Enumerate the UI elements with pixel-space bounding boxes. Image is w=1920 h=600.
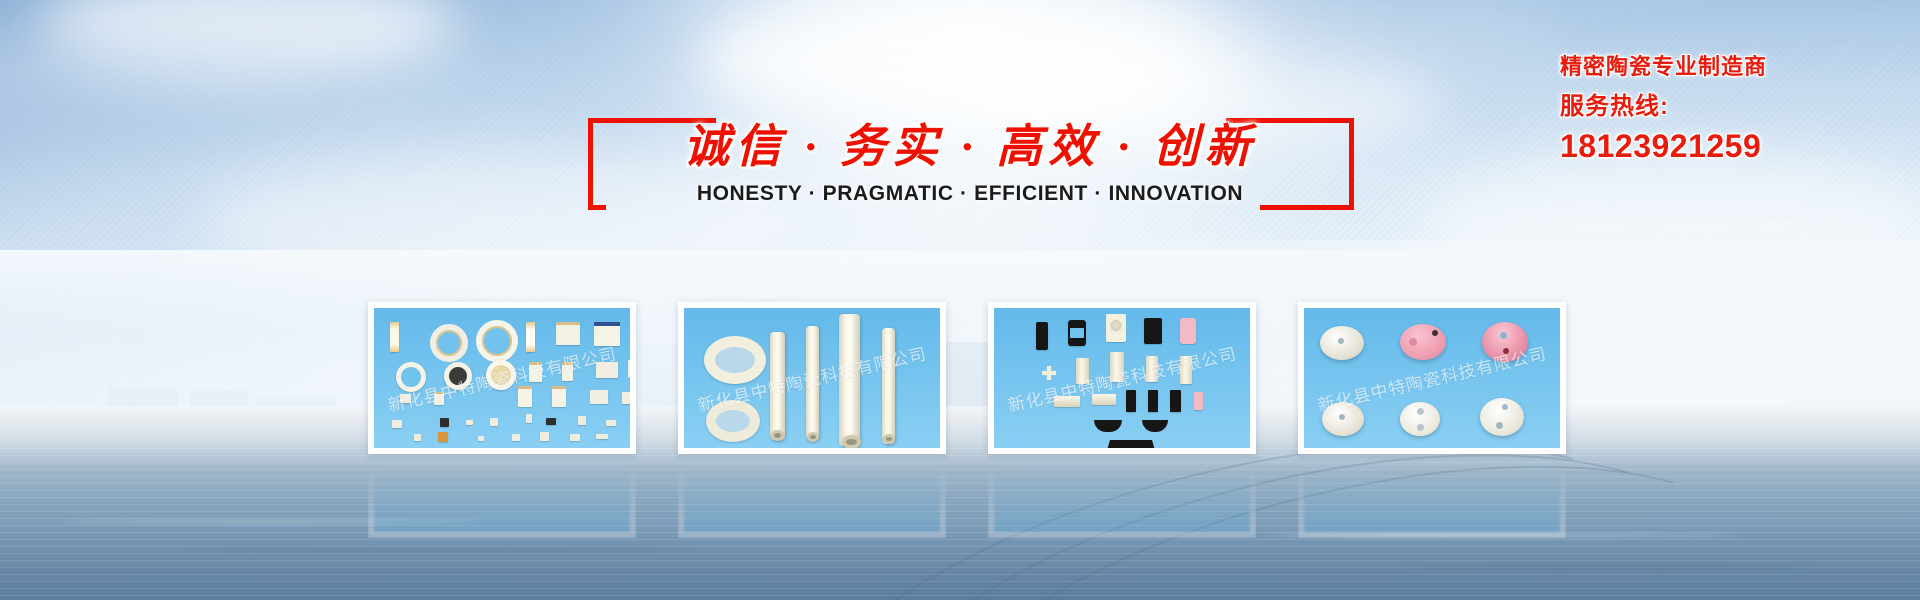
product-panel-1[interactable]: 新化县中特陶瓷科技有限公司: [368, 302, 636, 454]
company-tagline: 精密陶瓷专业制造商: [1560, 52, 1906, 82]
product-image-1: 新化县中特陶瓷科技有限公司: [374, 308, 630, 448]
water-ripple: [1400, 566, 1820, 569]
contact-block: 精密陶瓷专业制造商 服务热线: 18123921259: [1560, 52, 1906, 166]
product-panel-4[interactable]: 新化县中特陶瓷科技有限公司: [1298, 302, 1566, 454]
hero-banner: 诚信 · 务实 · 高效 · 创新 HONESTY · PRAGMATIC · …: [0, 0, 1920, 600]
water-ripple: [180, 548, 700, 551]
product-panel-2[interactable]: 新化县中特陶瓷科技有限公司: [678, 302, 946, 454]
product-image-3: 新化县中特陶瓷科技有限公司: [994, 308, 1250, 448]
panel-reflection: [368, 460, 636, 538]
hotline-number[interactable]: 18123921259: [1560, 126, 1906, 166]
panel-reflection: [678, 460, 946, 538]
product-panel-3[interactable]: 新化县中特陶瓷科技有限公司: [988, 302, 1256, 454]
hotline-label: 服务热线:: [1560, 88, 1906, 126]
product-image-2: 新化县中特陶瓷科技有限公司: [684, 308, 940, 448]
slogan-english: HONESTY · PRAGMATIC · EFFICIENT · INNOVA…: [560, 182, 1380, 206]
slogan-block: 诚信 · 务实 · 高效 · 创新 HONESTY · PRAGMATIC · …: [560, 118, 1380, 228]
panel-reflection: [988, 460, 1256, 538]
ground-horizon-sheen: [0, 406, 1920, 470]
product-image-4: 新化县中特陶瓷科技有限公司: [1304, 308, 1560, 448]
panel-reflection: [1298, 460, 1566, 538]
slogan-chinese: 诚信 · 务实 · 高效 · 创新: [560, 118, 1380, 176]
